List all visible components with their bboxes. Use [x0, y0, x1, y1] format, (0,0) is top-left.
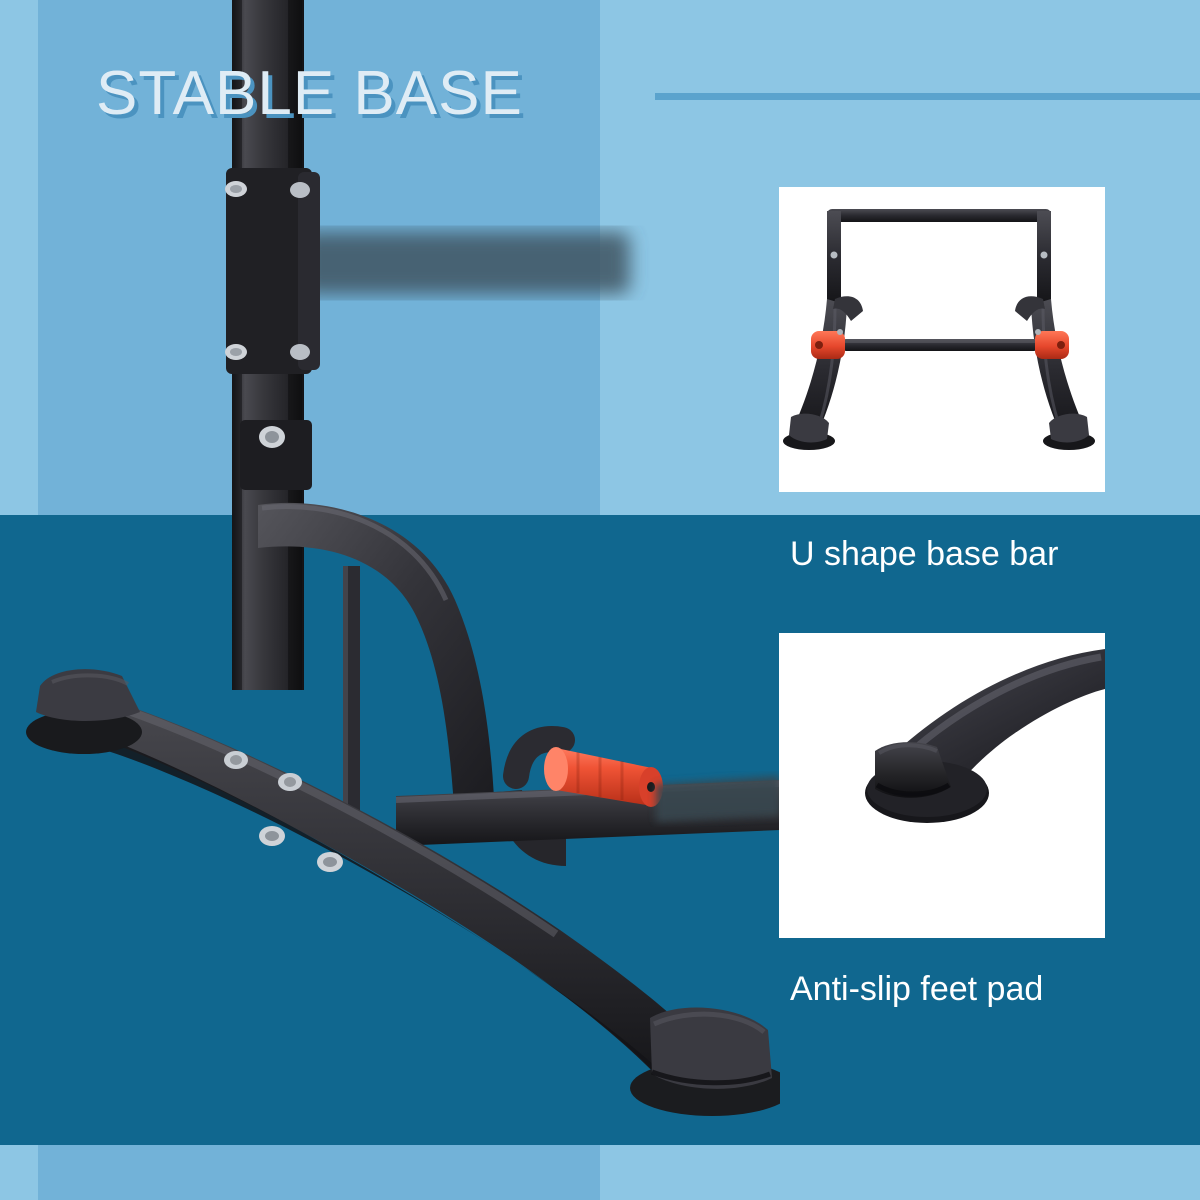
feature-card-u-shape-base-bar[interactable] [779, 187, 1105, 492]
lower-cross-bar [841, 339, 1039, 351]
anti-slip-foot-pad-left [26, 669, 142, 754]
header-divider-rule [655, 93, 1200, 100]
main-base-rail [48, 686, 716, 1092]
feature-card-anti-slip-feet-pad[interactable] [779, 633, 1105, 938]
feature-caption-u-shape-base-bar: U shape base bar [790, 535, 1058, 574]
top-cross-bar [827, 209, 1051, 222]
anti-slip-foot-pad-front [630, 1008, 780, 1116]
anti-slip-feet-pad-photo [779, 633, 1105, 938]
u-shape-base-bar-photo [779, 187, 1105, 492]
blurred-background-bar [300, 232, 630, 294]
lower-bracket-plate [240, 420, 312, 490]
feature-caption-anti-slip-feet-pad: Anti-slip feet pad [790, 970, 1043, 1009]
hero-product-image [0, 0, 780, 1200]
red-adjustment-knob-right [1035, 331, 1069, 359]
red-adjustment-knob-left [811, 331, 845, 359]
blurred-foreground-bar [656, 776, 780, 822]
mounting-bracket-plate [225, 168, 320, 374]
infographic-canvas: STABLE BASE [0, 0, 1200, 1200]
page-title: STABLE BASE [96, 58, 523, 129]
